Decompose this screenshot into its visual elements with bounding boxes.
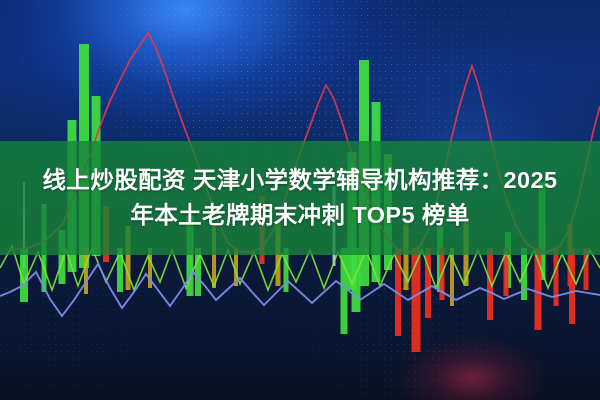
banner-image: 线上炒股配资 天津小学数学辅导机构推荐：2025 年本土老牌期末冲刺 TOP5 … xyxy=(0,0,600,400)
headline-line-1: 线上炒股配资 天津小学数学辅导机构推荐：2025 xyxy=(43,163,558,198)
candlestick xyxy=(569,248,575,324)
headline-band: 线上炒股配资 天津小学数学辅导机构推荐：2025 年本土老牌期末冲刺 TOP5 … xyxy=(0,141,600,255)
headline-line-2: 年本土老牌期末冲刺 TOP5 榜单 xyxy=(130,198,469,233)
